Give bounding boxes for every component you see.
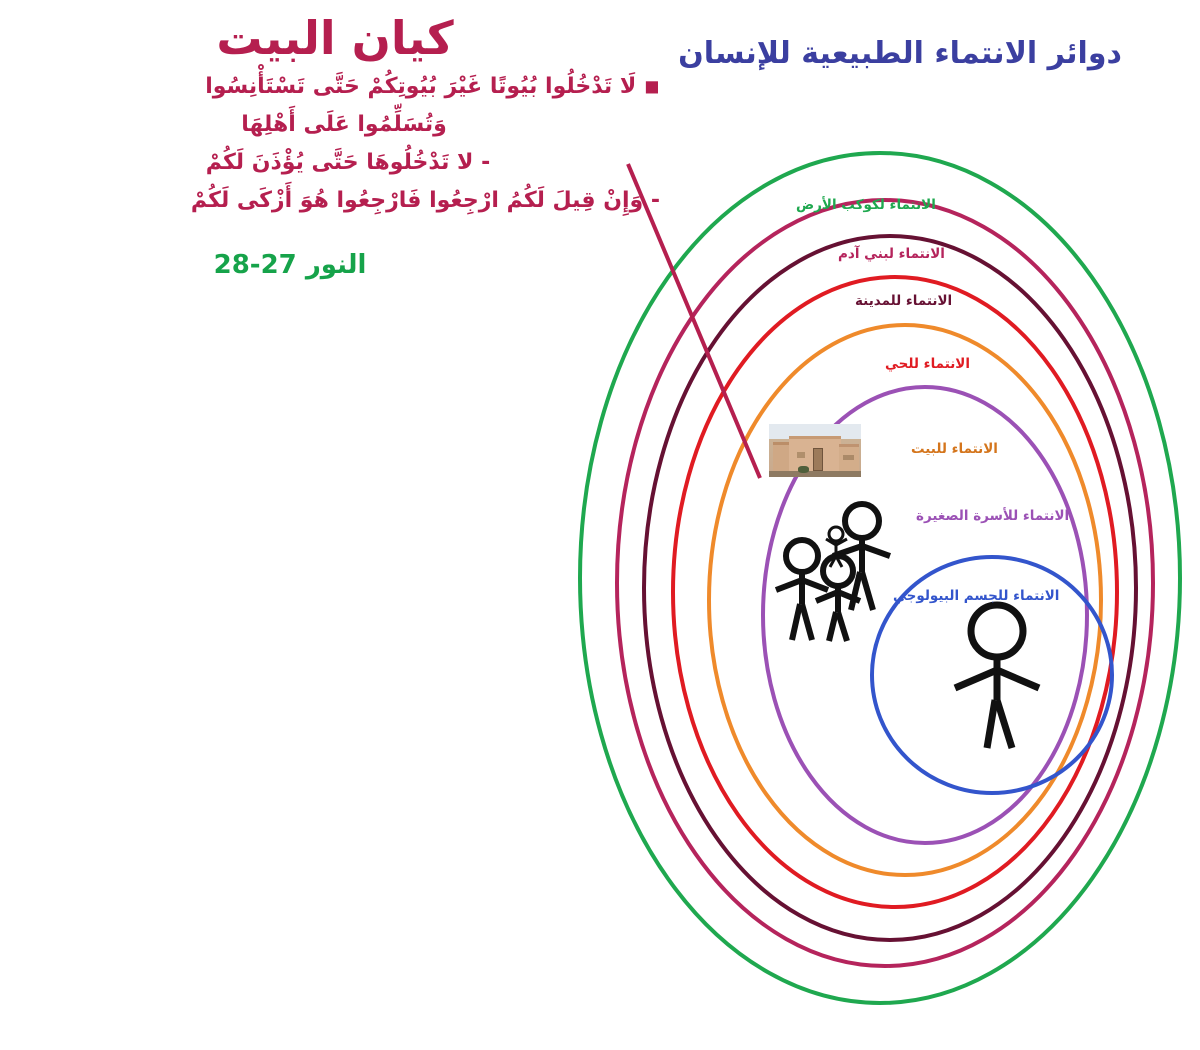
verse-citation: النور 27-28 — [40, 250, 660, 280]
ring-label-house: الانتماء للبيت — [908, 441, 1001, 457]
verse-line: - وَإِنْ قِيلَ لَكُمُ ارْجِعُوا فَارْجِع… — [40, 182, 660, 220]
ring-ellipse-planet-earth[interactable] — [580, 153, 1180, 1003]
ring-label-children-of-adam: الانتماء لبني آدم — [835, 246, 948, 262]
house-photo — [769, 424, 861, 477]
ring-label-small-family: الانتماء للأسرة الصغيرة — [913, 508, 1072, 524]
house-photo-window-1 — [797, 452, 805, 458]
house-photo-door — [813, 448, 823, 470]
slide-canvas: الانتماء لكوكب الأرض الانتماء لبني آدم ا… — [0, 0, 1200, 1050]
verse-block: ◾ لَا تَدْخُلُوا بُيُوتًا غَيْرَ بُيُوتِ… — [40, 68, 660, 219]
left-heading: كيان البيت — [40, 14, 660, 62]
house-photo-bush — [798, 466, 809, 472]
ring-ellipses — [580, 153, 1180, 1003]
ring-label-planet-earth: الانتماء لكوكب الأرض — [793, 197, 939, 213]
verse-line: ◾ لَا تَدْخُلُوا بُيُوتًا غَيْرَ بُيُوتِ… — [40, 68, 660, 106]
ring-label-neighborhood: الانتماء للحي — [882, 356, 973, 372]
verse-line: - لا تَدْخُلُوهَا حَتَّى يُؤْذَنَ لَكُمْ — [40, 144, 660, 182]
house-photo-window-2 — [843, 455, 854, 460]
ring-label-city: الانتماء للمدينة — [852, 293, 955, 309]
ring-ellipse-children-of-adam[interactable] — [617, 200, 1153, 966]
stick-figure-family-icon — [776, 504, 890, 641]
left-text-block: كيان البيت ◾ لَا تَدْخُلُوا بُيُوتًا غَي… — [40, 14, 660, 280]
stick-figure-person-icon — [955, 605, 1039, 748]
house-photo-ground — [769, 471, 861, 477]
page-title: دوائر الانتماء الطبيعية للإنسان — [620, 36, 1180, 71]
verse-line: وَتُسَلِّمُوا عَلَى أَهْلِهَا — [40, 106, 660, 144]
ring-label-biological-body: الانتماء للجسم البيولوجي — [890, 588, 1062, 604]
